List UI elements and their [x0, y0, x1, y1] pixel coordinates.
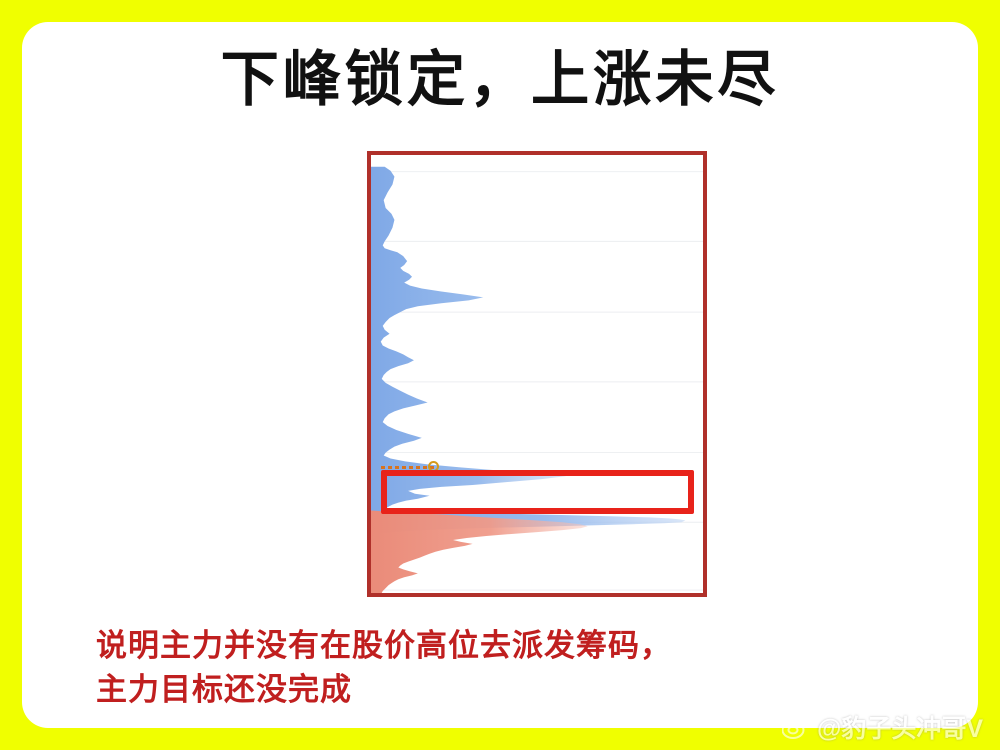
caption: 说明主力并没有在股价高位去派发筹码， 主力目标还没完成	[96, 624, 796, 712]
page-title: 下峰锁定，上涨未尽	[15, 44, 985, 116]
slide-root: 下峰锁定，上涨未尽	[0, 0, 1000, 750]
cost-line-marker-icon	[428, 461, 439, 472]
chart-plot-area	[371, 155, 703, 593]
red-chip-profile	[371, 511, 588, 593]
caption-line-1: 说明主力并没有在股价高位去派发筹码，	[96, 624, 796, 668]
watermark: @豹子头冲哥V	[782, 709, 983, 745]
blue-chip-profile	[371, 167, 566, 511]
watermark-text: @豹子头冲哥V	[817, 709, 983, 745]
chip-distribution-chart	[367, 151, 707, 597]
caption-line-2: 主力目标还没完成	[96, 668, 796, 712]
weibo-logo-icon	[782, 715, 810, 739]
